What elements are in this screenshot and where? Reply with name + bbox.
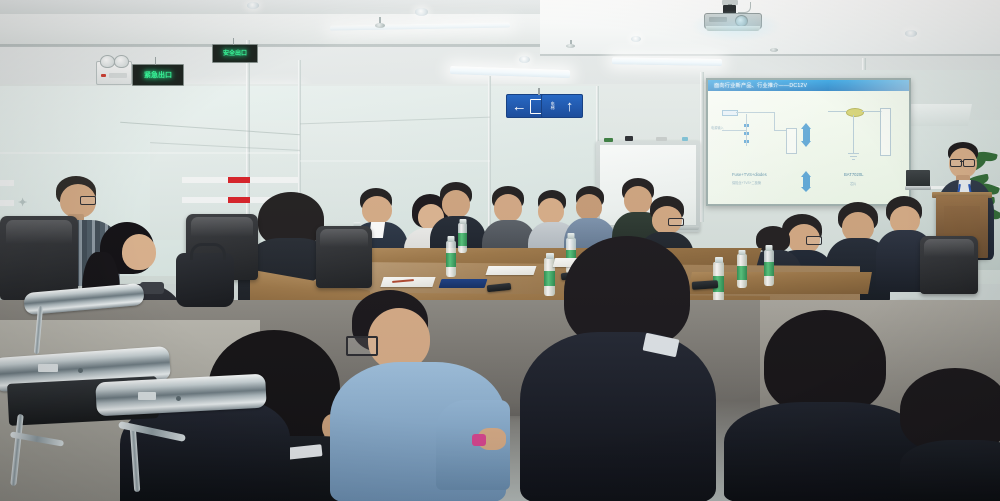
sprinkler-head [566,44,575,48]
projector-cable [738,2,751,13]
up-arrow-icon: ↑ [566,99,574,114]
glass-rail [300,160,490,162]
glass-safety-stripe [0,180,14,186]
slide-title-text: 面向行业新产品、行业推介——DC12V [708,82,807,89]
glasses [80,196,96,205]
slide-input-chip [722,110,738,116]
ceiling-edge-right [540,54,1000,56]
chair-rivet [176,396,181,401]
slide-arrow-head [801,123,811,129]
executive-chair[interactable] [0,216,78,300]
document-folder[interactable] [439,279,488,288]
executive-chair[interactable] [316,226,372,288]
slide-connector [862,111,882,112]
head [538,198,564,224]
slide-connector [736,112,774,113]
foreground-attendee-right [724,310,924,501]
slide-arrow-head [801,171,811,177]
foreground-attendee-far-right [900,368,1000,501]
head [494,194,522,222]
ceiling-downlight [247,2,259,9]
head [576,194,602,220]
presenter-laptop-screen[interactable] [906,170,930,187]
whiteboard-eraser[interactable] [656,137,667,141]
backpack[interactable] [176,253,234,307]
exit-sign: 安全出口 [212,44,258,63]
ceiling-downlight [631,36,641,42]
glass-safety-stripe [182,177,228,183]
sprinkler-head [375,23,385,28]
emergency-light-unit [96,61,132,85]
left-arrow-icon: ← [512,99,527,114]
slide-caption-left: Fuse+TVS+diodes [732,172,767,177]
water-bottle[interactable] [764,250,774,286]
glass-safety-stripe [182,197,228,203]
slide-arrow-head [801,187,811,192]
ceiling-downlight [415,8,428,16]
water-bottle[interactable] [737,254,747,288]
whiteboard-marker[interactable] [625,136,633,141]
glass-safety-stripe-red [228,177,250,183]
exit-sign-hanger [155,57,156,65]
torso [724,402,924,501]
glasses [806,236,822,245]
ceiling-downlight [519,56,530,63]
slide-connector [774,112,775,130]
presentation-slide: 面向行业新产品、行业推介——DC12V 电源输入 Fuse+TVS+diod [708,80,909,204]
direction-sign-right: 电梯 ↑ [541,94,583,118]
backpack-strap [190,243,226,260]
direction-sign-bracket [538,88,540,95]
slide-caption-left-sub: 保险丝+TVS+二极管 [732,181,761,185]
slide-title-wave [829,80,909,91]
slide-arrow-block [803,128,810,142]
foreground-attendee-blue-shirt [330,290,510,501]
exit-sign: 紧急出口 [132,64,184,86]
slide-connector [848,153,859,154]
exit-sign-hanger [233,38,234,45]
chair-label-tag [138,392,156,400]
glass-safety-stripe [250,177,298,183]
slide-connector [722,130,746,131]
conference-room-photo: 紧急出口 安全出口 ← 电梯 ↑ ✦ 面向行业新产品、行业推介——DC12V [0,0,1000,501]
whiteboard-sticker [682,137,688,141]
glasses [963,159,975,167]
glasses [668,218,684,226]
glass-rail [0,152,300,154]
slide-connector [853,115,854,153]
sprinkler-head [770,48,778,52]
slide-connector [746,114,747,146]
glass-safety-stripe [0,200,14,206]
chair-rivet [78,368,83,373]
direction-sign-label: 电梯 [551,102,555,110]
slide-caption-right-sub: 芯片 [850,182,856,186]
slide-component-node [846,108,864,117]
wristband [472,434,486,446]
slide-arrow-head [801,141,811,147]
torso [900,440,1000,501]
torso [520,332,716,501]
glasses [346,336,378,356]
ceiling-downlight [905,30,917,37]
slide-caption-right: BAT7020L [844,172,863,177]
exit-sign-text: 安全出口 [223,51,247,57]
slide-connector [774,130,786,131]
water-bottle[interactable] [458,223,467,253]
glasses-bridge [960,161,963,162]
emergency-light-indicator [101,74,106,77]
glass-mullion [700,72,704,222]
presenter-laptop-base[interactable] [905,186,931,190]
wall-logo-mark: ✦ [18,196,26,209]
water-bottle[interactable] [446,241,456,277]
whiteboard-marker[interactable] [604,138,613,142]
head [122,234,156,270]
slide-connector [850,156,857,157]
slide-connector [852,159,855,160]
foreground-attendee-dark-suit [520,236,716,501]
slide-box [786,128,797,154]
head [362,196,392,224]
head [442,190,470,218]
emergency-light-grill [109,73,127,78]
slide-connector [828,111,846,112]
hair [764,310,886,414]
projector-light-glow [690,10,782,42]
executive-chair[interactable] [920,236,978,294]
slide-input-label: 电源输入 [711,126,724,130]
slide-box [880,108,891,156]
exit-sign-text: 紧急出口 [144,72,172,79]
chair-label-tag [38,364,58,372]
